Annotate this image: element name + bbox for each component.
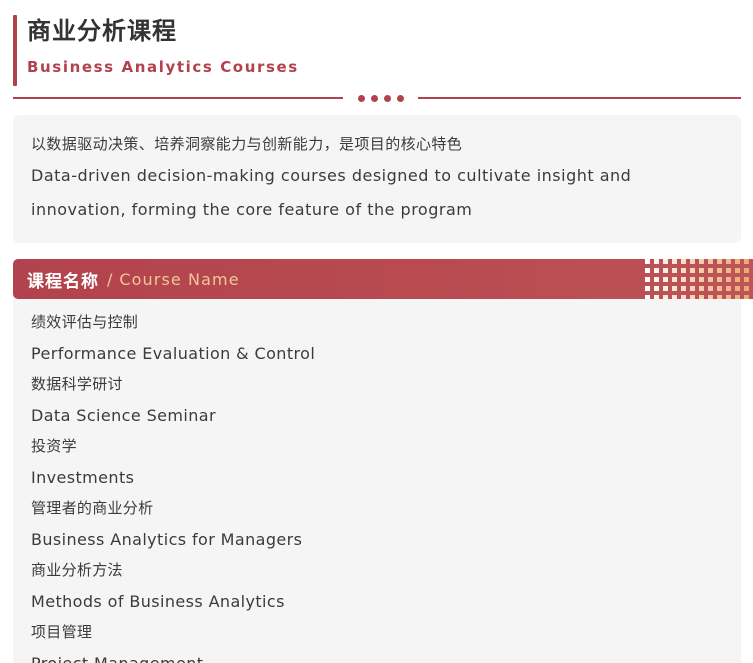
description-text-cn: 以数据驱动决策、培养洞察能力与创新能力，是项目的核心特色 — [31, 129, 723, 159]
divider-dot-icon — [358, 95, 365, 102]
page-title-en: Business Analytics Courses — [27, 56, 753, 78]
description-text-en-line2: innovation, forming the core feature of … — [31, 193, 723, 227]
course-name-cn: 投资学 — [31, 431, 723, 462]
table-row[interactable]: 商业分析方法 Methods of Business Analytics — [13, 555, 741, 617]
page-header: 商业分析课程 Business Analytics Courses — [0, 0, 753, 78]
divider-dot-icon — [397, 95, 404, 102]
divider-dots — [358, 95, 404, 102]
course-name-cn: 绩效评估与控制 — [31, 307, 723, 338]
divider-dot-icon — [371, 95, 378, 102]
course-name-en: Data Science Seminar — [31, 400, 723, 431]
divider-dot-icon — [384, 95, 391, 102]
course-name-en: Investments — [31, 462, 723, 493]
page-title-cn: 商业分析课程 — [27, 14, 753, 48]
column-header-separator: / — [107, 270, 112, 289]
title-accent-bar — [13, 15, 17, 86]
section-divider — [13, 91, 741, 105]
course-name-cn: 商业分析方法 — [31, 555, 723, 586]
course-name-cn: 项目管理 — [31, 617, 723, 648]
course-name-cn: 管理者的商业分析 — [31, 493, 723, 524]
table-row[interactable]: 管理者的商业分析 Business Analytics for Managers — [13, 493, 741, 555]
course-name-en: Performance Evaluation & Control — [31, 338, 723, 369]
table-row[interactable]: 项目管理 Project Management — [13, 617, 741, 663]
decorative-dot-grid-pattern — [645, 259, 753, 299]
course-listing-page: 商业分析课程 Business Analytics Courses 以数据驱动决… — [0, 0, 753, 663]
course-name-en: Methods of Business Analytics — [31, 586, 723, 617]
description-text-en-line1: Data-driven decision-making courses desi… — [31, 159, 723, 193]
course-name-en: Project Management — [31, 648, 723, 663]
course-table-header: 课程名称 / Course Name — [13, 259, 753, 299]
column-header-label-en: Course Name — [119, 270, 239, 289]
table-row[interactable]: 数据科学研讨 Data Science Seminar — [13, 369, 741, 431]
divider-line-right — [418, 97, 741, 99]
course-table-body: 绩效评估与控制 Performance Evaluation & Control… — [13, 299, 741, 663]
divider-line-left — [13, 97, 343, 99]
table-row[interactable]: 绩效评估与控制 Performance Evaluation & Control — [13, 307, 741, 369]
course-name-en: Business Analytics for Managers — [31, 524, 723, 555]
column-header-label-cn: 课程名称 — [27, 267, 99, 292]
program-description-box: 以数据驱动决策、培养洞察能力与创新能力，是项目的核心特色 Data-driven… — [13, 115, 741, 243]
table-row[interactable]: 投资学 Investments — [13, 431, 741, 493]
course-name-cn: 数据科学研讨 — [31, 369, 723, 400]
